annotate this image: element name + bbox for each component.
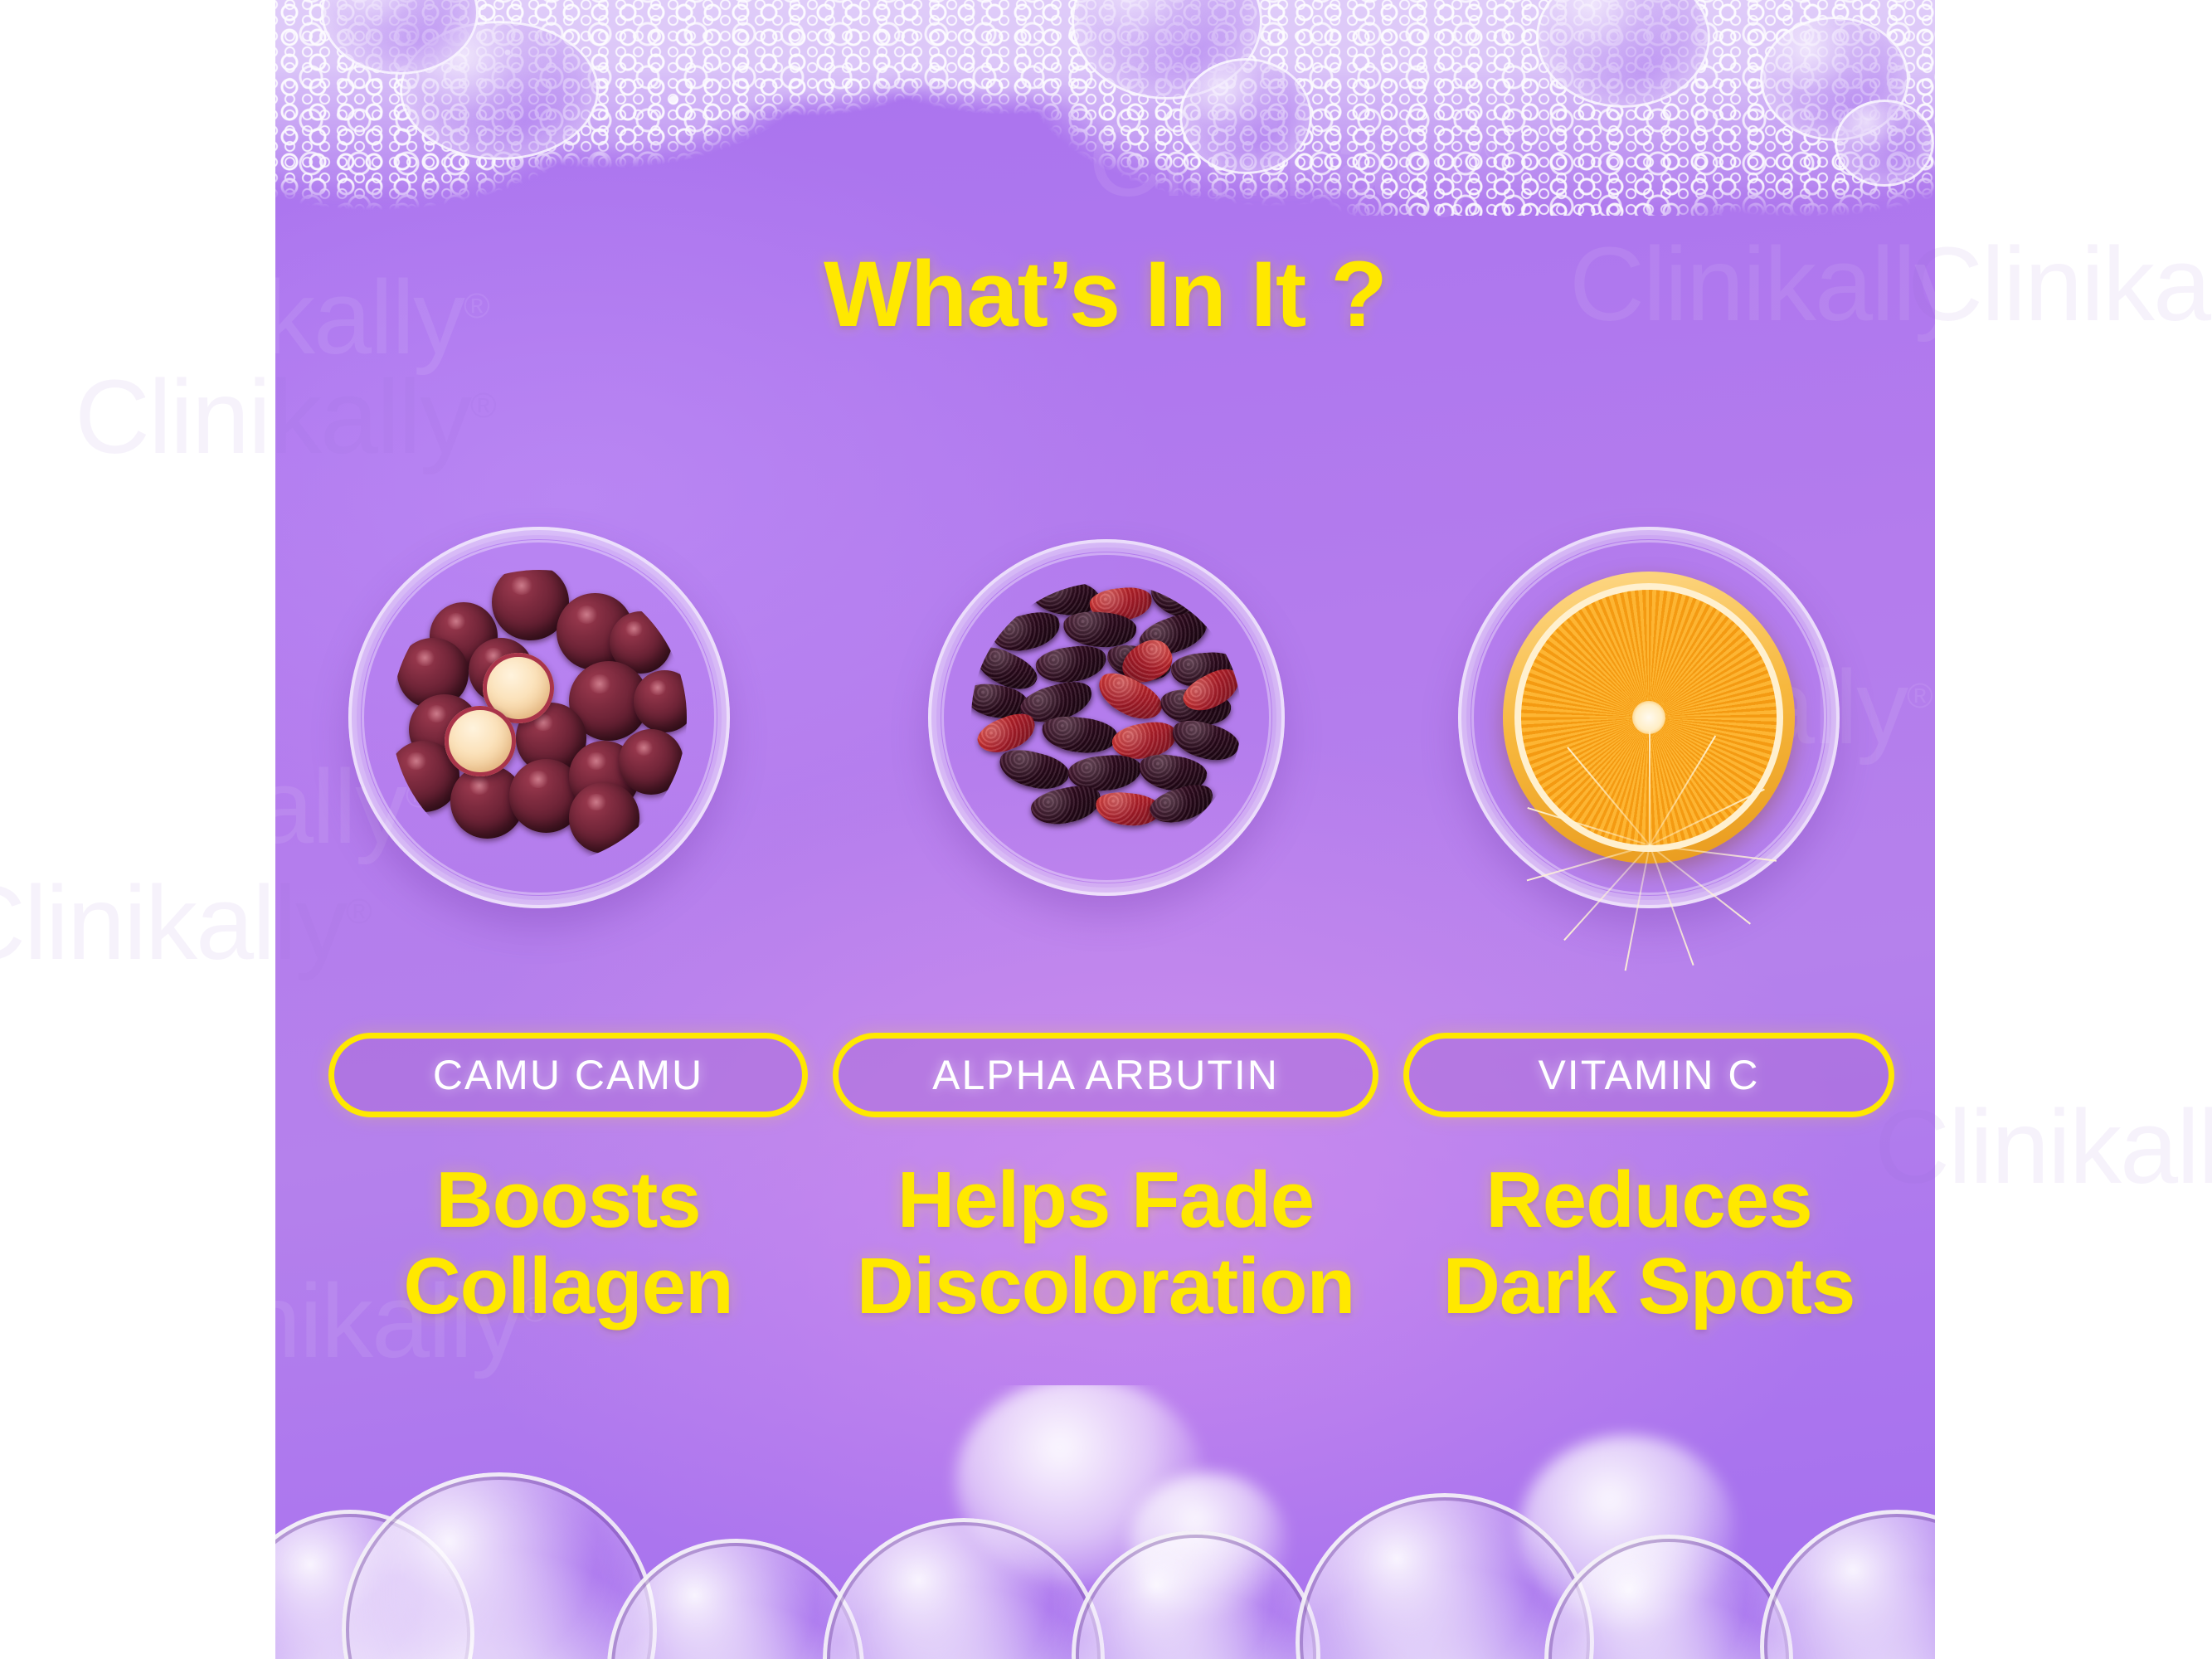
- ingredient-badge-camu-camu[interactable]: CAMU CAMU: [328, 1033, 808, 1117]
- ingredient-badge-alpha-arbutin[interactable]: ALPHA ARBUTIN: [833, 1033, 1378, 1117]
- orange-slice-icon: [1503, 572, 1795, 864]
- benefit-line-1: Boosts: [328, 1157, 808, 1243]
- ingredient-badge-label: ALPHA ARBUTIN: [932, 1051, 1279, 1099]
- ingredient-image-camu-camu: [299, 477, 780, 958]
- screenshot-canvas: Clinikally® Clinikally® Clinikally® Clin…: [0, 0, 2212, 1659]
- ingredient-badge-label: CAMU CAMU: [433, 1051, 703, 1099]
- benefit-line-2: Dark Spots: [1397, 1243, 1901, 1330]
- benefit-line-1: Helps Fade: [823, 1157, 1388, 1243]
- ingredient-image-vitamin-c: [1408, 477, 1889, 958]
- berry-icon: [619, 729, 683, 794]
- orange-flesh: [1521, 590, 1777, 845]
- ingredient-infographic: Clinikally® Clinikally® Clinikally® Clin…: [275, 0, 1935, 1659]
- orange-core: [1632, 701, 1665, 734]
- benefit-alpha-arbutin: Helps Fade Discoloration: [823, 1157, 1388, 1329]
- camu-camu-berry-heap: [391, 570, 687, 865]
- ingredient-badge-label: VITAMIN C: [1538, 1051, 1759, 1099]
- berry-icon: [569, 782, 639, 853]
- benefit-line-1: Reduces: [1397, 1157, 1901, 1243]
- bubble-icon: [342, 1472, 657, 1659]
- benefit-line-2: Collagen: [328, 1243, 808, 1330]
- mulberry-heap: [971, 582, 1242, 853]
- brand-watermark: Clinikally®: [1908, 224, 2212, 344]
- bubble-icon: [1760, 1510, 1935, 1659]
- mulberry-icon: [1040, 713, 1120, 757]
- ingredient-images-row: [275, 477, 1935, 958]
- ingredient-image-alpha-arbutin: [866, 477, 1347, 958]
- glass-bowl: [928, 539, 1285, 896]
- benefit-line-2: Discoloration: [823, 1243, 1388, 1330]
- foam-bubble-icon: [1835, 100, 1934, 187]
- berry-icon: [634, 670, 687, 732]
- bubble-decoration: [275, 1385, 1935, 1659]
- cut-berry-icon: [445, 706, 515, 776]
- benefit-vitamin-c: Reduces Dark Spots: [1397, 1157, 1901, 1329]
- benefit-camu-camu: Boosts Collagen: [328, 1157, 808, 1329]
- glass-bowl: [348, 527, 730, 908]
- soap-foam-decoration: [275, 0, 1935, 249]
- ingredient-badge-vitamin-c[interactable]: VITAMIN C: [1403, 1033, 1894, 1117]
- glass-bowl: [1458, 527, 1840, 908]
- mulberry-icon: [1034, 643, 1109, 688]
- foam-bubble-icon: [1179, 58, 1312, 174]
- page-title: What’s In It ?: [275, 241, 1935, 348]
- ingredient-name-badges: CAMU CAMU ALPHA ARBUTIN VITAMIN C: [275, 1033, 1935, 1124]
